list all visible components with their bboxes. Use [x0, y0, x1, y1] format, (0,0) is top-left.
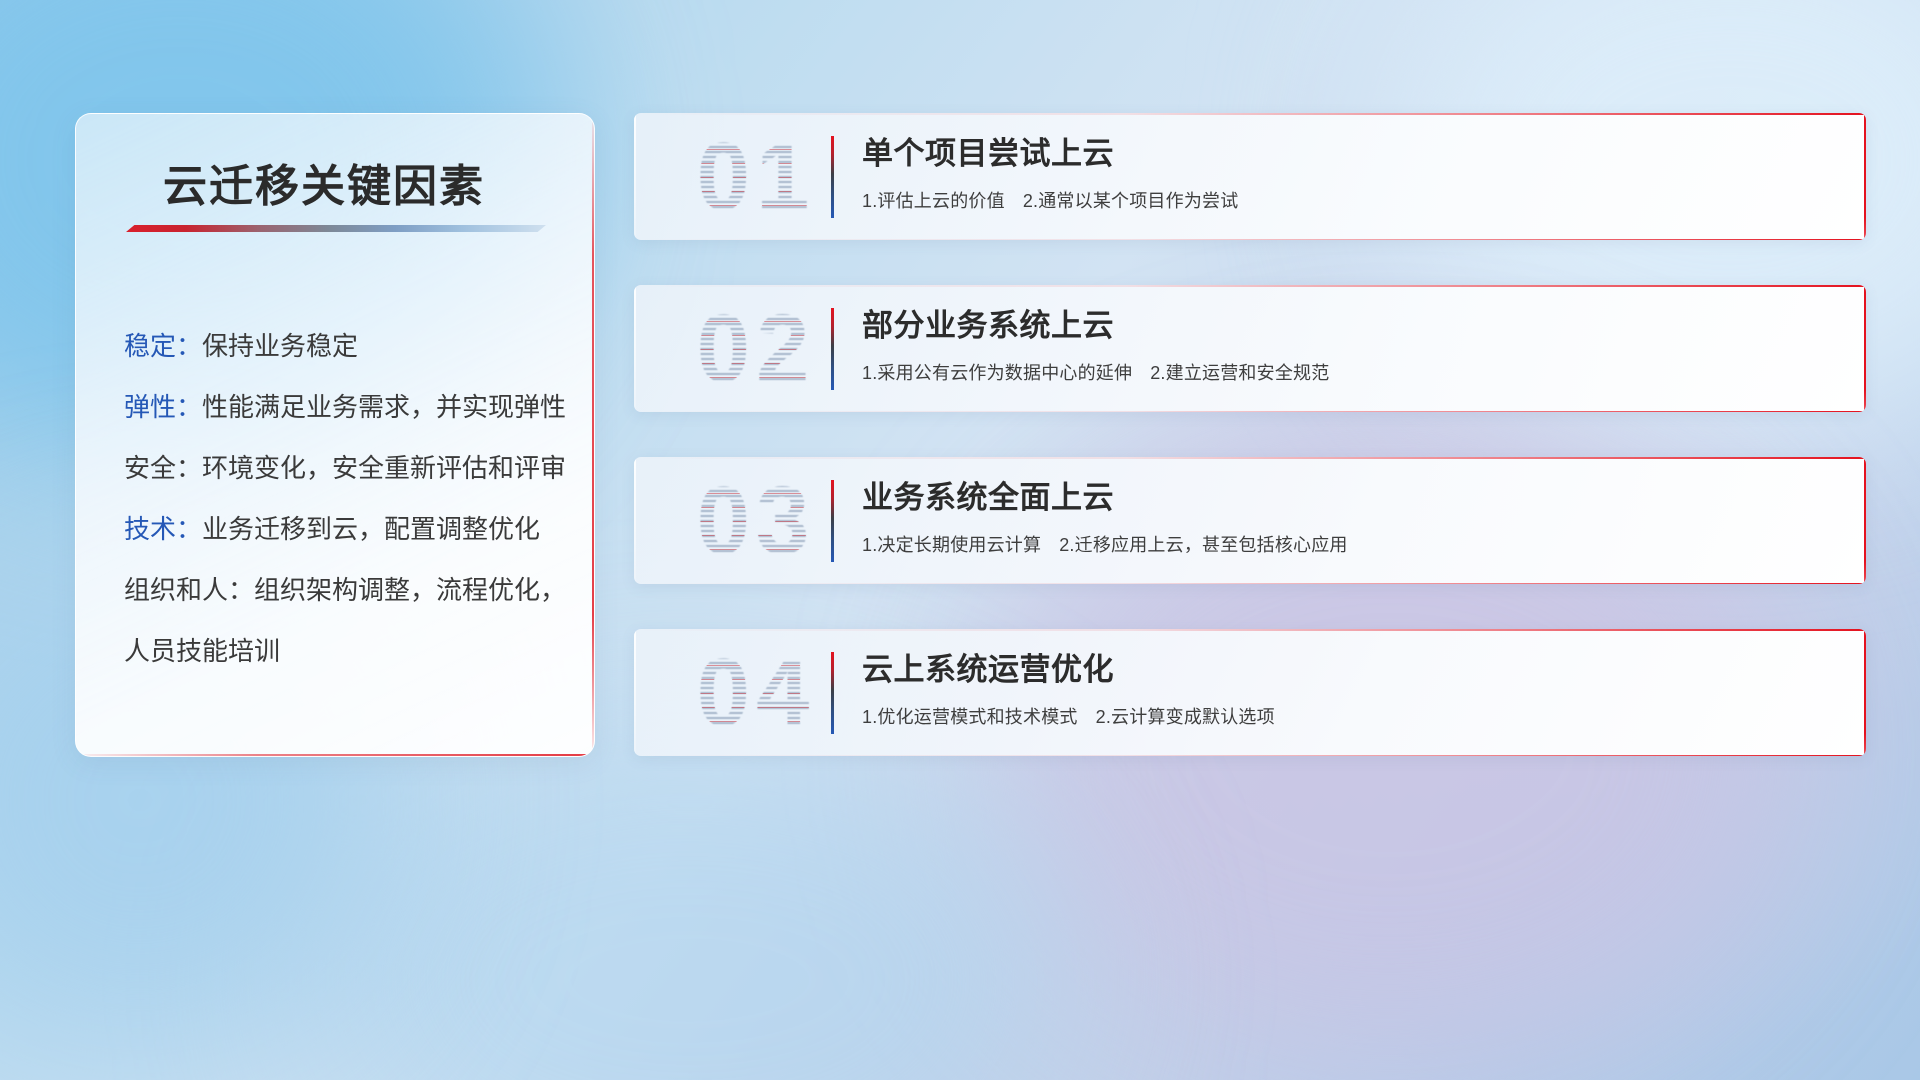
- factor-text: 业务迁移到云，配置调整优化: [202, 514, 540, 544]
- card-subtitle: 1.采用公有云作为数据中心的延伸2.建立运营和安全规范: [862, 359, 1848, 385]
- card-point-2: 2.迁移应用上云，甚至包括核心应用: [1059, 535, 1347, 555]
- factor-text: 保持业务稳定: [202, 331, 358, 361]
- page-title: 云迁移关键因素: [163, 150, 485, 214]
- step-card-02[interactable]: 02 02 部分业务系统上云 1.采用公有云作为数据中心的延伸2.建立运营和安全…: [634, 285, 1866, 412]
- card-text-block: 业务系统全面上云 1.决定长期使用云计算2.迁移应用上云，甚至包括核心应用: [862, 477, 1848, 557]
- card-point-2: 2.建立运营和安全规范: [1150, 363, 1329, 383]
- card-title: 单个项目尝试上云: [862, 133, 1848, 175]
- card-text-block: 部分业务系统上云 1.采用公有云作为数据中心的延伸2.建立运营和安全规范: [862, 305, 1848, 385]
- step-card-03[interactable]: 03 03 业务系统全面上云 1.决定长期使用云计算2.迁移应用上云，甚至包括核…: [634, 457, 1866, 584]
- card-left-highlight: [634, 285, 636, 412]
- list-item: 安全：环境变化，安全重新评估和评审: [124, 438, 568, 499]
- card-point-2: 2.通常以某个项目作为尝试: [1023, 191, 1239, 211]
- card-point-2: 2.云计算变成默认选项: [1096, 707, 1275, 727]
- card-right-accent: [1864, 629, 1866, 756]
- factor-label: 组织和人：: [124, 575, 254, 605]
- key-factors-panel: 云迁移关键因素 稳定：保持业务稳定 弹性：性能满足业务需求，并实现弹性 安全：环…: [75, 113, 595, 757]
- card-text-block: 云上系统运营优化 1.优化运营模式和技术模式2.云计算变成默认选项: [862, 649, 1848, 729]
- card-bottom-accent: [634, 239, 1866, 241]
- step-card-01[interactable]: 01 01 单个项目尝试上云 1.评估上云的价值2.通常以某个项目作为尝试: [634, 113, 1866, 240]
- factor-text: 人员技能培训: [124, 636, 280, 666]
- factor-list: 稳定：保持业务稳定 弹性：性能满足业务需求，并实现弹性 安全：环境变化，安全重新…: [124, 316, 568, 682]
- factor-label: 安全：: [124, 453, 202, 483]
- card-title: 业务系统全面上云: [862, 477, 1848, 519]
- card-left-highlight: [634, 113, 636, 240]
- card-divider-bar: [831, 136, 834, 218]
- list-item: 人员技能培训: [124, 621, 568, 682]
- card-subtitle: 1.决定长期使用云计算2.迁移应用上云，甚至包括核心应用: [862, 531, 1848, 557]
- slide-canvas: 云迁移关键因素 稳定：保持业务稳定 弹性：性能满足业务需求，并实现弹性 安全：环…: [0, 0, 1920, 1080]
- card-top-accent: [634, 113, 1866, 115]
- factor-label: 弹性：: [124, 392, 202, 422]
- card-subtitle: 1.优化运营模式和技术模式2.云计算变成默认选项: [862, 703, 1848, 729]
- card-right-accent: [1864, 113, 1866, 240]
- card-left-highlight: [634, 629, 636, 756]
- factor-label: 稳定：: [124, 331, 202, 361]
- list-item: 弹性：性能满足业务需求，并实现弹性: [124, 377, 568, 438]
- card-point-1: 1.优化运营模式和技术模式: [862, 707, 1078, 727]
- card-point-1: 1.决定长期使用云计算: [862, 535, 1041, 555]
- step-number-ghost-red: 04: [656, 637, 856, 749]
- card-title: 部分业务系统上云: [862, 305, 1848, 347]
- card-top-accent: [634, 629, 1866, 631]
- factor-label: 技术：: [124, 514, 202, 544]
- factor-text: 环境变化，安全重新评估和评审: [202, 453, 566, 483]
- card-bottom-accent: [634, 411, 1866, 413]
- card-divider-bar: [831, 480, 834, 562]
- step-number-ghost-red: 01: [656, 121, 856, 233]
- list-item: 组织和人：组织架构调整，流程优化，: [124, 560, 568, 621]
- card-right-accent: [1864, 285, 1866, 412]
- factor-text: 组织架构调整，流程优化，: [254, 575, 566, 605]
- card-top-accent: [634, 285, 1866, 287]
- card-point-1: 1.评估上云的价值: [862, 191, 1005, 211]
- card-text-block: 单个项目尝试上云 1.评估上云的价值2.通常以某个项目作为尝试: [862, 133, 1848, 213]
- card-bottom-accent: [634, 755, 1866, 757]
- card-divider-bar: [831, 308, 834, 390]
- card-top-accent: [634, 457, 1866, 459]
- card-bottom-accent: [634, 583, 1866, 585]
- card-divider-bar: [831, 652, 834, 734]
- card-right-accent: [1864, 457, 1866, 584]
- step-number-ghost-red: 03: [656, 465, 856, 577]
- card-point-1: 1.采用公有云作为数据中心的延伸: [862, 363, 1132, 383]
- list-item: 技术：业务迁移到云，配置调整优化: [124, 499, 568, 560]
- card-title: 云上系统运营优化: [862, 649, 1848, 691]
- card-left-highlight: [634, 457, 636, 584]
- steps-list: 01 01 单个项目尝试上云 1.评估上云的价值2.通常以某个项目作为尝试 02…: [634, 113, 1866, 801]
- factor-text: 性能满足业务需求，并实现弹性: [202, 392, 566, 422]
- list-item: 稳定：保持业务稳定: [124, 316, 568, 377]
- title-underline-rule: [126, 225, 546, 232]
- card-subtitle: 1.评估上云的价值2.通常以某个项目作为尝试: [862, 187, 1848, 213]
- step-card-04[interactable]: 04 04 云上系统运营优化 1.优化运营模式和技术模式2.云计算变成默认选项: [634, 629, 1866, 756]
- step-number-ghost-red: 02: [656, 293, 856, 405]
